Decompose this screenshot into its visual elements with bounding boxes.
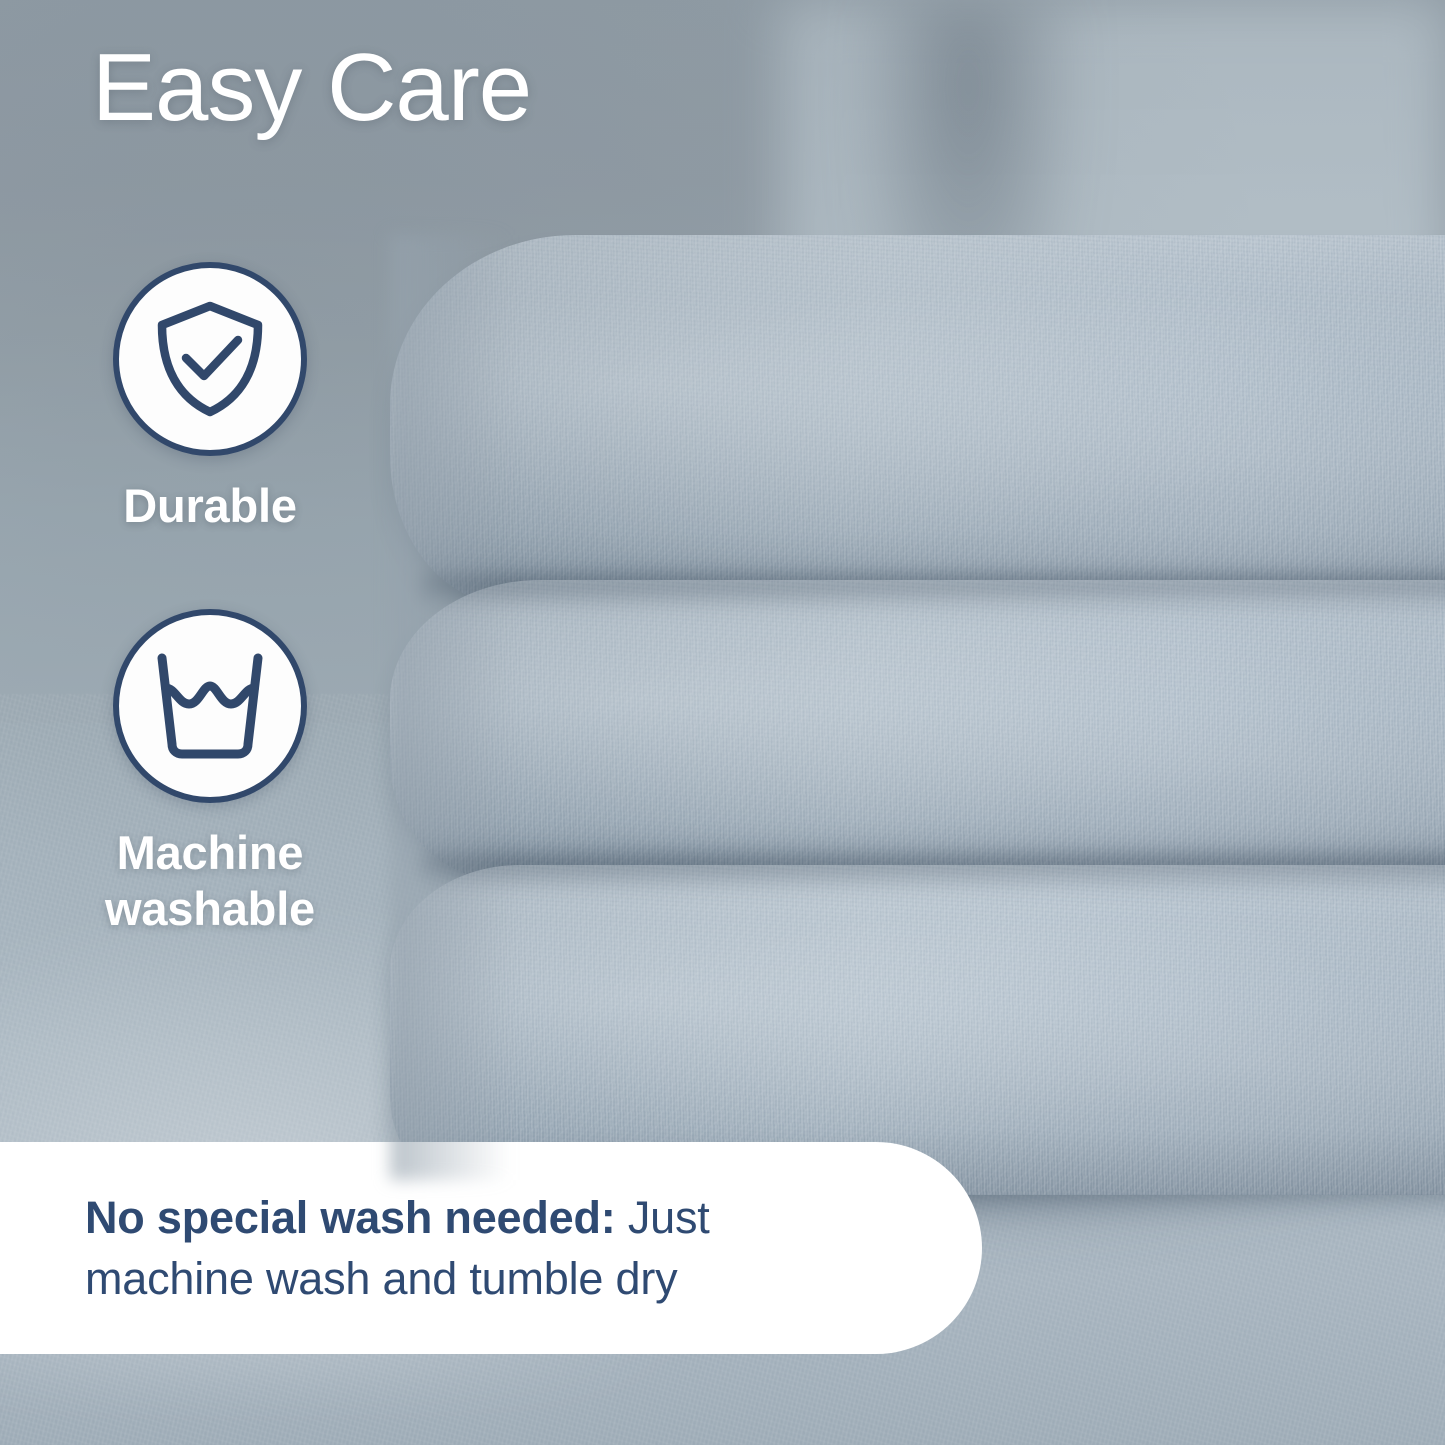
shield-check-icon (150, 298, 270, 420)
folded-sheet-middle (390, 580, 1445, 880)
feature-icon-badge (113, 609, 307, 803)
caption-emphasis: No special wash needed: (85, 1192, 616, 1243)
folded-sheet-top (390, 235, 1445, 605)
sheet-crease-lower (420, 855, 1445, 899)
feature-label: Machine washable (40, 825, 380, 936)
easy-care-feature-card: Easy Care Durable (0, 0, 1445, 1445)
folded-sheet-bottom (390, 865, 1445, 1195)
caption-text: No special wash needed: Just machine was… (0, 1187, 982, 1309)
wash-tub-icon (148, 648, 272, 764)
feature-label: Durable (40, 478, 380, 533)
page-title: Easy Care (92, 38, 531, 139)
feature-item-machine-washable: Machine washable (0, 609, 420, 936)
feature-item-durable: Durable (0, 262, 420, 533)
feature-list: Durable Machine washable (0, 262, 420, 936)
feature-icon-badge (113, 262, 307, 456)
sheet-crease-upper (420, 575, 1445, 619)
folded-sheet-stack (390, 235, 1445, 1180)
